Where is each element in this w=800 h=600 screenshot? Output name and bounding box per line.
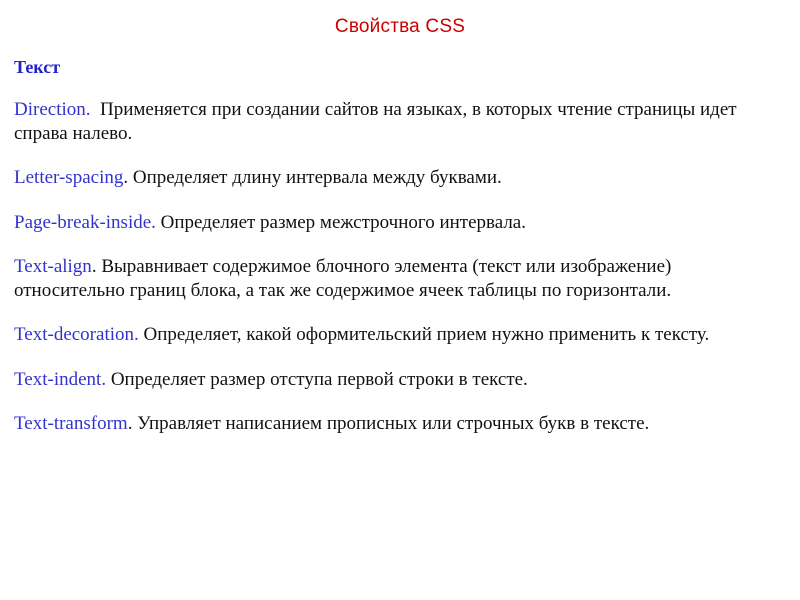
property-entry: Text-decoration. Определяет, какой оформ… (14, 323, 786, 347)
property-description: Определяет размер отступа первой строки … (111, 369, 528, 390)
property-description: Определяет, какой оформительский прием н… (144, 324, 710, 345)
property-gap (91, 99, 101, 120)
property-entry: Text-indent. Определяет размер отступа п… (14, 368, 786, 392)
property-entry: Letter-spacing. Определяет длину интерва… (14, 166, 786, 190)
property-term: Letter-spacing (14, 167, 123, 188)
property-entry: Text-align. Выравнивает содержимое блочн… (14, 255, 786, 302)
property-list: Direction. Применяется при создании сайт… (14, 98, 786, 436)
property-description: Управляет написанием прописных или строч… (137, 413, 649, 434)
property-term: Text-decoration (14, 324, 134, 345)
page-title: Свойства CSS (0, 16, 800, 38)
property-term: Text-transform (14, 413, 128, 434)
property-description: Выравнивает содержимое блочного элемента… (14, 256, 671, 301)
content-body: Текст Direction. Применяется при создани… (14, 57, 786, 436)
property-entry: Direction. Применяется при создании сайт… (14, 98, 786, 145)
property-description: Применяется при создании сайтов на языка… (14, 99, 737, 144)
property-term: Text-indent (14, 369, 101, 390)
property-entry: Text-transform. Управляет написанием про… (14, 412, 786, 436)
property-term: Page-break-inside (14, 212, 151, 233)
slide-canvas: Свойства CSS Текст Direction. Применяетс… (0, 0, 800, 600)
property-term: Text-align (14, 256, 92, 277)
property-description: Определяет длину интервала между буквами… (133, 167, 502, 188)
section-heading-text: Текст (14, 57, 786, 78)
property-term: Direction (14, 99, 86, 120)
property-description: Определяет размер межстрочного интервала… (161, 212, 526, 233)
property-entry: Page-break-inside. Определяет размер меж… (14, 211, 786, 235)
